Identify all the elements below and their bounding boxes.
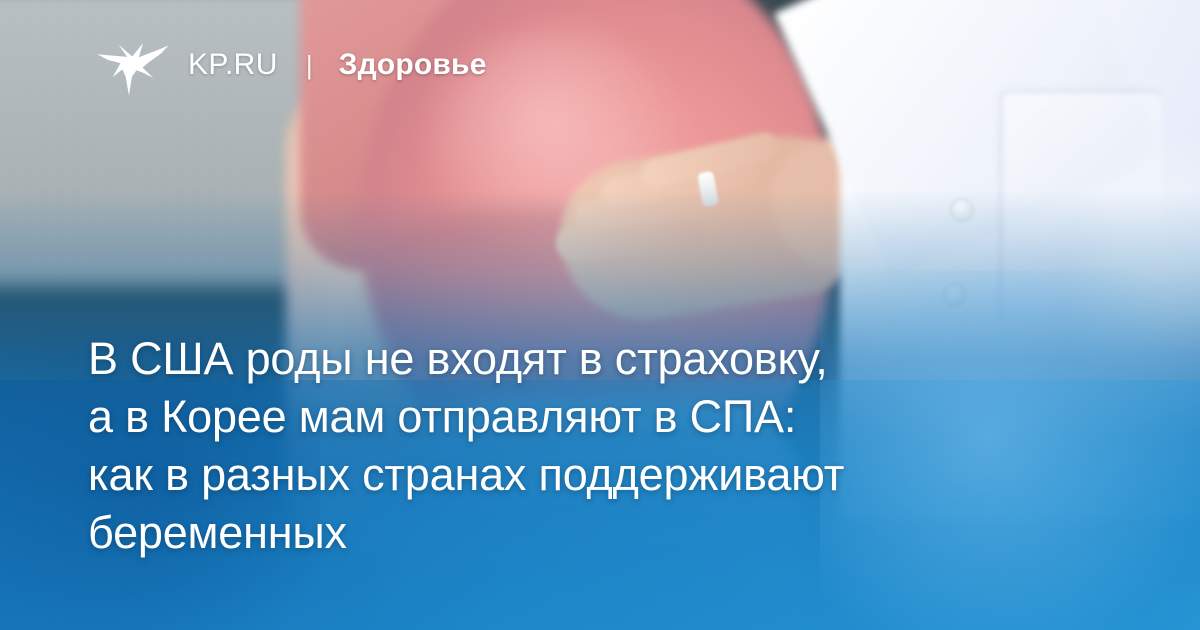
headline-line-4: беременных <box>88 504 1018 562</box>
article-headline: В США роды не входят в страховку, а в Ко… <box>88 330 1018 562</box>
article-share-card: KP.RU | Здоровье В США роды не входят в … <box>0 0 1200 630</box>
brand-header: KP.RU | Здоровье <box>96 34 487 96</box>
headline-line-3: как в разных странах поддерживают <box>88 446 1018 504</box>
brand-name[interactable]: KP.RU <box>188 48 278 82</box>
swallow-bird-logo-icon[interactable] <box>96 34 170 96</box>
section-name[interactable]: Здоровье <box>339 48 487 82</box>
headline-line-1: В США роды не входят в страховку, <box>88 330 1018 388</box>
brand-separator: | <box>306 50 313 81</box>
headline-line-2: а в Корее мам отправляют в СПА: <box>88 388 1018 446</box>
